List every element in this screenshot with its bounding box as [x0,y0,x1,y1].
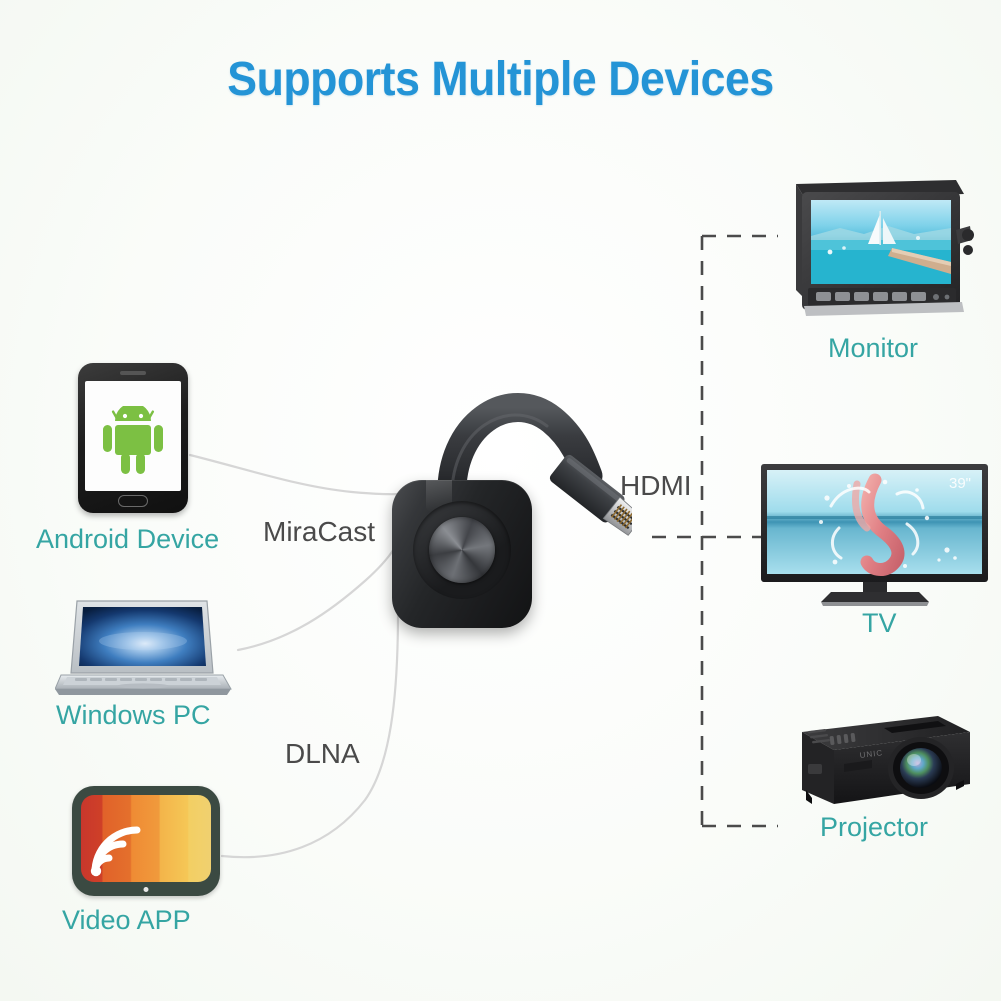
page-title: Supports Multiple Devices [35,52,966,107]
port-label-hdmi: HDMI [620,470,692,502]
android-robot-icon [101,406,165,476]
output-label-tv: TV [862,608,897,639]
video-app-gradient [81,795,211,882]
laptop-icon [55,597,235,707]
infographic-canvas: Supports Multiple Devices [0,0,1001,1001]
video-app-indicator [144,887,149,892]
tv-size-badge: 39" [949,475,971,492]
output-label-projector: Projector [820,812,928,843]
output-label-monitor: Monitor [828,333,918,364]
video-app-cast-icon [72,786,220,896]
android-phone-icon [78,363,188,513]
source-label-windows: Windows PC [56,700,211,731]
phone-home-button-icon [118,495,148,507]
source-label-videoapp: Video APP [62,905,191,936]
car-monitor-icon [784,178,974,318]
protocol-label-dlna: DLNA [285,738,360,770]
dongle-metal-disc [429,517,495,583]
flat-tv-icon: 39" [757,462,992,610]
mini-projector-icon: UNIC [788,706,978,814]
wireless-display-dongle [392,372,632,652]
phone-speaker-icon [120,371,146,375]
source-label-android: Android Device [36,524,219,555]
cast-wifi-arc-icon [87,822,149,880]
protocol-label-miracast: MiraCast [263,516,375,548]
